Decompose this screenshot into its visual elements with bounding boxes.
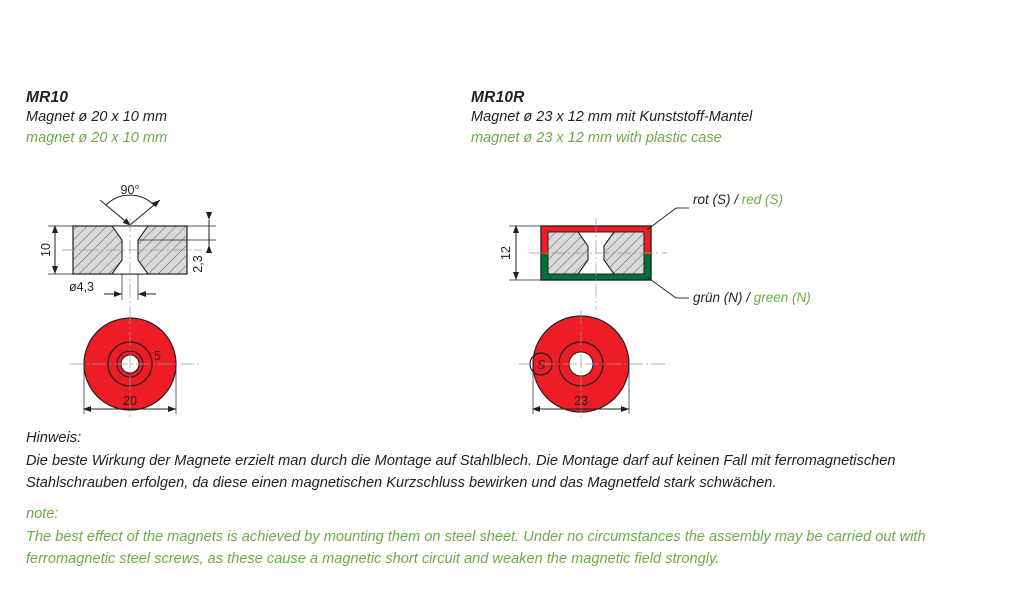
product-desc-de-mr10: Magnet ø 20 x 10 mm xyxy=(26,107,167,128)
callout-green-de: grün (N) xyxy=(693,290,743,305)
callout-green-sep: / xyxy=(743,290,754,305)
height-label-12: 12 xyxy=(499,246,513,260)
callout-red-sep: / xyxy=(731,192,742,207)
note-german-title: Hinweis: xyxy=(26,427,895,450)
callout-green-pole: grün (N) / green (N) xyxy=(647,277,811,305)
note-german-line2: Stahlschrauben erfolgen, da diese einen … xyxy=(26,472,895,495)
height-label-10: 10 xyxy=(39,243,53,257)
technical-drawing-mr10: 90° 10 xyxy=(26,178,286,428)
plan-view-mr10r: S xyxy=(519,310,667,418)
cross-section-body-mr10 xyxy=(62,218,202,310)
cross-section-body-mr10r xyxy=(529,218,667,310)
note-english-line1: The best effect of the magnets is achiev… xyxy=(26,526,926,549)
bore-dimension: ø4,3 xyxy=(69,274,156,300)
svg-text:rot (S) / red (S): rot (S) / red (S) xyxy=(693,192,783,207)
outer-diameter-label-23: 23 xyxy=(574,394,588,408)
product-desc-de-mr10r: Magnet ø 23 x 12 mm mit Kunststoff-Mante… xyxy=(471,107,752,128)
callout-green-en: green (N) xyxy=(754,290,811,305)
datasheet-page: MR10 Magnet ø 20 x 10 mm magnet ø 20 x 1… xyxy=(0,0,1024,614)
product-desc-en-mr10: magnet ø 20 x 10 mm xyxy=(26,128,167,149)
product-heading-mr10: MR10 Magnet ø 20 x 10 mm magnet ø 20 x 1… xyxy=(26,88,167,149)
outer-diameter-label-20: 20 xyxy=(123,394,137,408)
product-desc-en-mr10r: magnet ø 23 x 12 mm with plastic case xyxy=(471,128,752,149)
inner-mark-label: 5 xyxy=(154,349,161,363)
technical-drawing-mr10r: 12 rot (S) / red (S) grün (N) / green (N… xyxy=(471,178,801,428)
callout-red-en: red (S) xyxy=(742,192,783,207)
product-heading-mr10r: MR10R Magnet ø 23 x 12 mm mit Kunststoff… xyxy=(471,88,752,149)
product-code-mr10r: MR10R xyxy=(471,88,752,107)
product-code-mr10: MR10 xyxy=(26,88,167,107)
bore-label: ø4,3 xyxy=(69,280,94,294)
callout-red-de: rot (S) xyxy=(693,192,731,207)
note-english-title: note: xyxy=(26,503,926,526)
countersink-depth-label: 2,3 xyxy=(191,255,205,272)
note-german: Hinweis: Die beste Wirkung der Magnete e… xyxy=(26,427,895,495)
svg-text:grün (N) / green (N): grün (N) / green (N) xyxy=(693,290,811,305)
angle-label: 90° xyxy=(121,183,140,197)
pole-marker-label: S xyxy=(537,358,546,372)
note-english-line2: ferromagnetic steel screws, as these cau… xyxy=(26,548,926,571)
callout-red-pole: rot (S) / red (S) xyxy=(647,192,783,230)
note-english: note: The best effect of the magnets is … xyxy=(26,503,926,571)
note-german-line1: Die beste Wirkung der Magnete erzielt ma… xyxy=(26,450,895,473)
